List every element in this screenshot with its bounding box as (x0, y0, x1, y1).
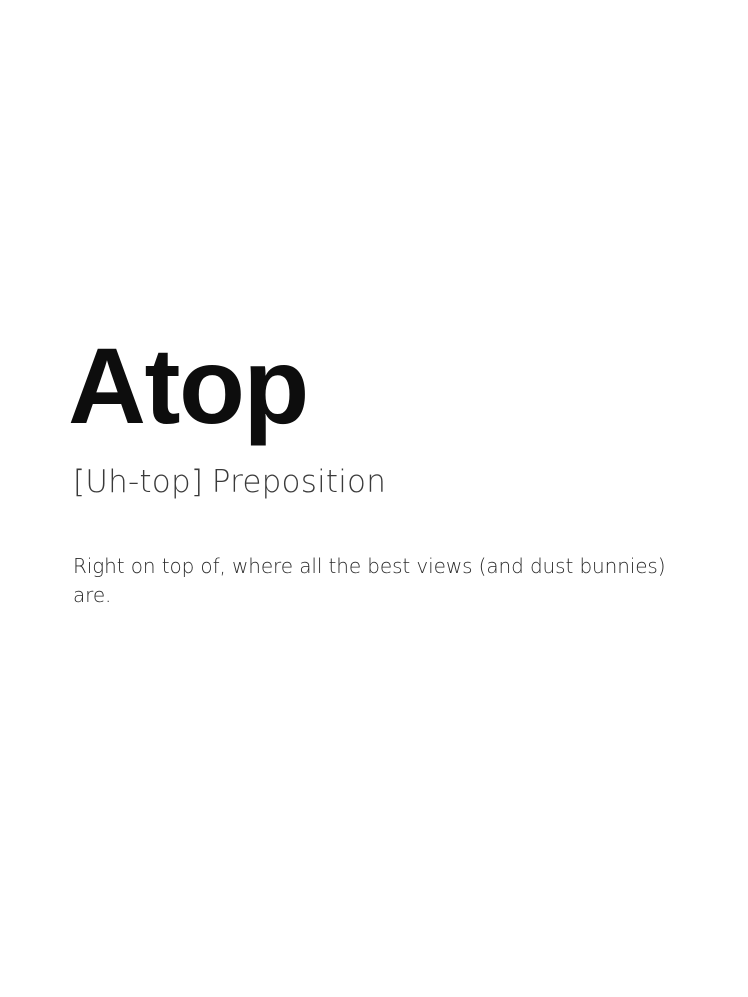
headword: Atop (68, 332, 308, 440)
definition-card: Atop [Uh-top]Preposition Right on top of… (0, 0, 748, 997)
pronunciation-line: [Uh-top]Preposition (73, 466, 386, 499)
definition-text: Right on top of, where all the best view… (73, 552, 677, 610)
part-of-speech: Preposition (212, 464, 386, 500)
phonetic-respelling: [Uh-top] (73, 464, 203, 500)
